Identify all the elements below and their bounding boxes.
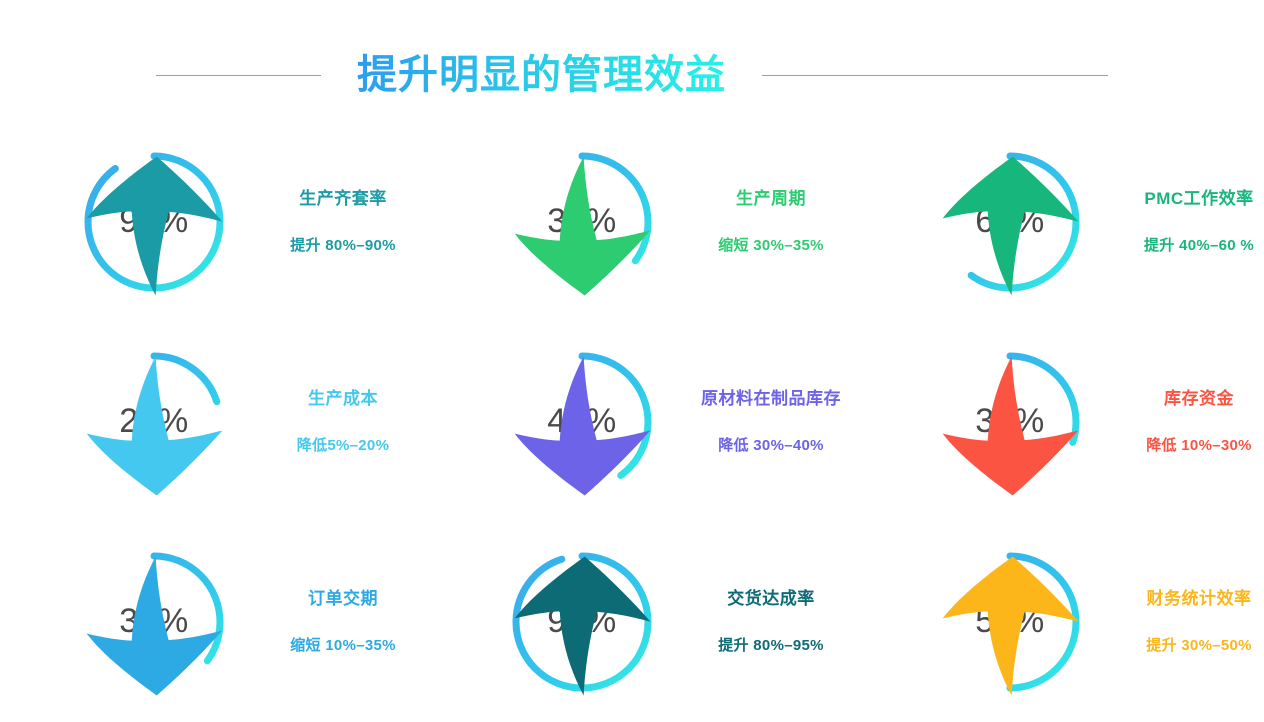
page-header: 提升明显的管理效益	[0, 46, 1264, 104]
metric-subtitle: 提升 30%–50%	[1146, 637, 1252, 655]
metric-title: 订单交期	[308, 589, 378, 609]
metric-labels: 原材料在制品库存降低 30%–40%	[686, 389, 856, 454]
metric-card-production-cycle[interactable]: 35%生产周期缩短 30%–35%	[428, 122, 856, 322]
trend-up-arrow-icon	[78, 150, 230, 302]
metric-subtitle: 提升 80%–95%	[718, 637, 824, 655]
trend-down-arrow-icon	[934, 350, 1086, 502]
metric-subtitle: 提升 80%–90%	[290, 237, 396, 255]
gauge-center: 20%	[78, 346, 230, 498]
trend-down-arrow-icon	[78, 350, 230, 502]
trend-up-arrow-icon	[506, 550, 658, 702]
metric-subtitle: 降低 10%–30%	[1146, 437, 1252, 455]
gauge-center: 35%	[506, 146, 658, 298]
metric-subtitle: 缩短 30%–35%	[718, 237, 824, 255]
metric-card-order-lead-time[interactable]: 35%订单交期缩短 10%–35%	[0, 522, 428, 722]
metric-labels: 生产齐套率提升 80%–90%	[258, 189, 428, 254]
metric-title: 交货达成率	[727, 589, 815, 609]
metric-title: 生产周期	[736, 189, 806, 209]
metric-labels: PMC工作效率提升 40%–60 %	[1114, 189, 1264, 254]
gauge-center: 40%	[506, 346, 658, 498]
metric-subtitle: 提升 40%–60 %	[1144, 237, 1254, 255]
metric-card-delivery-achievement-rate[interactable]: 95%交货达成率提升 80%–95%	[428, 522, 856, 722]
gauge-ring-raw-material-wip-inventory: 40%	[506, 346, 658, 498]
trend-up-arrow-icon	[934, 550, 1086, 702]
gauge-ring-inventory-capital: 30%	[934, 346, 1086, 498]
metric-title: 原材料在制品库存	[701, 389, 841, 409]
gauge-center: 95%	[506, 546, 658, 698]
page-title: 提升明显的管理效益	[357, 51, 726, 99]
trend-down-arrow-icon	[506, 150, 658, 302]
header-rule-right	[762, 75, 1108, 76]
metric-labels: 财务统计效率提升 30%–50%	[1114, 589, 1264, 654]
gauge-ring-delivery-achievement-rate: 95%	[506, 546, 658, 698]
metric-card-raw-material-wip-inventory[interactable]: 40%原材料在制品库存降低 30%–40%	[428, 322, 856, 522]
metric-title: 生产成本	[308, 389, 378, 409]
metric-title: 库存资金	[1164, 389, 1234, 409]
metrics-grid: 90%生产齐套率提升 80%–90%35%生产周期缩短 30%–35%60%PM…	[0, 122, 1264, 722]
metric-subtitle: 降低 30%–40%	[718, 437, 824, 455]
header-rule-left	[156, 75, 321, 76]
gauge-center: 60%	[934, 146, 1086, 298]
metric-labels: 交货达成率提升 80%–95%	[686, 589, 856, 654]
metric-card-finance-statistics-efficiency[interactable]: 50%财务统计效率提升 30%–50%	[856, 522, 1264, 722]
gauge-ring-production-kitting-rate: 90%	[78, 146, 230, 298]
gauge-center: 50%	[934, 546, 1086, 698]
metric-title: 财务统计效率	[1147, 589, 1252, 609]
metric-card-pmc-work-efficiency[interactable]: 60%PMC工作效率提升 40%–60 %	[856, 122, 1264, 322]
metric-title: PMC工作效率	[1144, 189, 1253, 209]
gauge-center: 30%	[934, 346, 1086, 498]
gauge-ring-production-cycle: 35%	[506, 146, 658, 298]
metric-labels: 订单交期缩短 10%–35%	[258, 589, 428, 654]
trend-down-arrow-icon	[78, 550, 230, 702]
metric-card-production-cost[interactable]: 20%生产成本降低5%–20%	[0, 322, 428, 522]
gauge-center: 90%	[78, 146, 230, 298]
metric-labels: 生产成本降低5%–20%	[258, 389, 428, 454]
metric-subtitle: 降低5%–20%	[297, 437, 389, 455]
metric-labels: 库存资金降低 10%–30%	[1114, 389, 1264, 454]
metric-labels: 生产周期缩短 30%–35%	[686, 189, 856, 254]
metric-subtitle: 缩短 10%–35%	[290, 637, 396, 655]
metric-title: 生产齐套率	[299, 189, 387, 209]
gauge-ring-pmc-work-efficiency: 60%	[934, 146, 1086, 298]
trend-down-arrow-icon	[506, 350, 658, 502]
gauge-ring-order-lead-time: 35%	[78, 546, 230, 698]
metric-card-production-kitting-rate[interactable]: 90%生产齐套率提升 80%–90%	[0, 122, 428, 322]
gauge-center: 35%	[78, 546, 230, 698]
trend-up-arrow-icon	[934, 150, 1086, 302]
gauge-ring-finance-statistics-efficiency: 50%	[934, 546, 1086, 698]
metric-card-inventory-capital[interactable]: 30%库存资金降低 10%–30%	[856, 322, 1264, 522]
gauge-ring-production-cost: 20%	[78, 346, 230, 498]
